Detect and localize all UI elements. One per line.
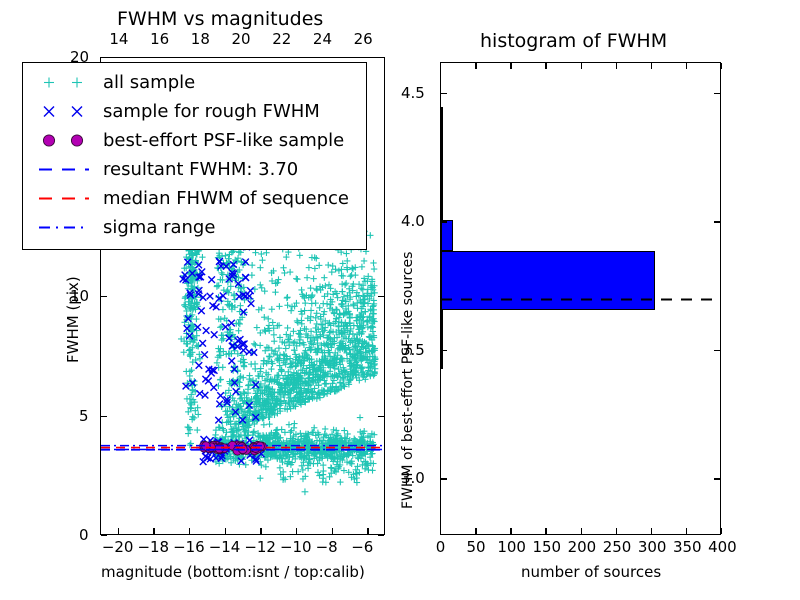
bottom-tick-label: −6 <box>351 538 373 556</box>
histogram-x-tick-mark <box>475 528 476 534</box>
histogram-frame <box>440 62 721 535</box>
histogram-x-tick-mark-top <box>510 63 511 69</box>
figure-canvas: FWHM vs magnitudes 14161820222426 −20−18… <box>0 0 800 600</box>
legend-item[interactable]: best-effort PSF-like sample <box>29 126 366 155</box>
legend-box: all samplesample for rough FWHMbest-effo… <box>22 62 367 250</box>
bottom-tick-mark <box>367 528 368 534</box>
histogram-x-tick-mark <box>616 528 617 534</box>
histogram-x-tick-mark <box>440 528 441 534</box>
histogram-y-tick-mark <box>441 93 447 94</box>
top-tick-label: 14 <box>109 30 128 48</box>
legend-label: sigma range <box>103 219 215 237</box>
histogram-y-tick-mark <box>441 221 447 222</box>
top-tick-label: 20 <box>232 30 251 48</box>
histogram-y-tick-mark-right <box>714 478 720 479</box>
bottom-tick-mark <box>225 528 226 534</box>
histogram-x-tick-mark <box>721 528 722 534</box>
histogram-x-tick-mark-top <box>440 63 441 69</box>
left-panel-ylabel: FWHM (pix) <box>64 276 82 363</box>
histogram-x-tick-label: 50 <box>467 538 486 556</box>
legend-marker-plus-icon <box>29 68 103 97</box>
left-panel-title: FWHM vs magnitudes <box>117 8 323 30</box>
bottom-tick-mark <box>118 528 119 534</box>
histogram-x-tick-mark <box>545 528 546 534</box>
bottom-tick-label: −8 <box>316 538 338 556</box>
legend-label: median FHWM of sequence <box>103 190 349 208</box>
legend-label: all sample <box>103 74 195 92</box>
legend-label: resultant FWHM: 3.70 <box>103 161 298 179</box>
top-tick-label: 26 <box>354 30 373 48</box>
histogram-x-tick-mark <box>651 528 652 534</box>
bottom-tick-label: −16 <box>173 538 205 556</box>
top-tick-label: 22 <box>272 30 291 48</box>
legend-item[interactable]: sigma range <box>29 213 366 242</box>
top-tick-label: 16 <box>150 30 169 48</box>
legend-label: best-effort PSF-like sample <box>103 132 344 150</box>
bottom-tick-label: −12 <box>244 538 276 556</box>
histogram-x-tick-label: 250 <box>603 538 632 556</box>
left-frame-right-tick <box>378 416 384 417</box>
left-panel-xlabel: magnitude (bottom:isnt / top:calib) <box>101 563 365 581</box>
left-tick-mark <box>101 535 107 536</box>
top-tick-label: 18 <box>191 30 210 48</box>
bottom-tick-mark <box>189 528 190 534</box>
legend-label: sample for rough FWHM <box>103 103 320 121</box>
bottom-tick-mark <box>260 528 261 534</box>
histogram-y-tick-mark <box>441 350 447 351</box>
legend-item[interactable]: all sample <box>29 68 366 97</box>
histogram-y-tick-label: 4.0 <box>401 212 425 230</box>
top-tick-label: 24 <box>313 30 332 48</box>
histogram-canvas <box>441 63 720 534</box>
histogram-x-tick-label: 150 <box>532 538 561 556</box>
left-frame-right-tick <box>378 57 384 58</box>
legend-item[interactable]: median FHWM of sequence <box>29 184 366 213</box>
histogram-x-tick-mark <box>510 528 511 534</box>
histogram-x-tick-mark-top <box>651 63 652 69</box>
histogram-x-tick-mark-top <box>721 63 722 69</box>
histogram-x-tick-mark-top <box>686 63 687 69</box>
left-tick-label: 5 <box>79 407 89 425</box>
histogram-x-tick-label: 0 <box>436 538 446 556</box>
histogram-x-tick-label: 100 <box>497 538 526 556</box>
bottom-tick-label: −14 <box>209 538 241 556</box>
bottom-tick-label: −18 <box>137 538 169 556</box>
left-tick-mark <box>101 296 107 297</box>
left-frame-right-tick <box>378 296 384 297</box>
histogram-x-tick-mark <box>686 528 687 534</box>
histogram-y-tick-label: 4.5 <box>401 84 425 102</box>
bottom-tick-mark <box>153 528 154 534</box>
histogram-x-tick-label: 300 <box>638 538 667 556</box>
histogram-y-tick-mark-right <box>714 221 720 222</box>
right-panel-title: histogram of FWHM <box>480 30 667 52</box>
legend-item[interactable]: resultant FWHM: 3.70 <box>29 155 366 184</box>
left-tick-mark <box>101 416 107 417</box>
histogram-median-line <box>441 63 720 534</box>
left-tick-label: 0 <box>79 526 89 544</box>
left-tick-mark <box>101 57 107 58</box>
bottom-tick-label: −20 <box>102 538 134 556</box>
bottom-tick-label: −10 <box>280 538 312 556</box>
legend-marker-dashdot-icon <box>29 213 103 242</box>
left-frame-right-tick <box>378 535 384 536</box>
right-panel-ylabel: FWHM of best-effort PSF-like sources <box>400 252 416 509</box>
histogram-y-tick-mark-right <box>714 93 720 94</box>
histogram-y-tick-mark <box>441 478 447 479</box>
histogram-x-tick-mark-top <box>616 63 617 69</box>
histogram-y-tick-mark-right <box>714 350 720 351</box>
legend-marker-dashed-icon <box>29 155 103 184</box>
legend-marker-dashed-icon <box>29 184 103 213</box>
histogram-x-tick-mark-top <box>545 63 546 69</box>
right-panel-xlabel: number of sources <box>521 563 661 581</box>
histogram-x-tick-label: 400 <box>708 538 737 556</box>
histogram-x-tick-label: 350 <box>673 538 702 556</box>
bottom-tick-mark <box>296 528 297 534</box>
legend-marker-cross-icon <box>29 97 103 126</box>
bottom-tick-mark <box>332 528 333 534</box>
legend-marker-circle-icon <box>29 126 103 155</box>
histogram-x-tick-mark <box>581 528 582 534</box>
histogram-x-tick-label: 200 <box>568 538 597 556</box>
histogram-x-tick-mark-top <box>475 63 476 69</box>
legend-item[interactable]: sample for rough FWHM <box>29 97 366 126</box>
histogram-x-tick-mark-top <box>581 63 582 69</box>
